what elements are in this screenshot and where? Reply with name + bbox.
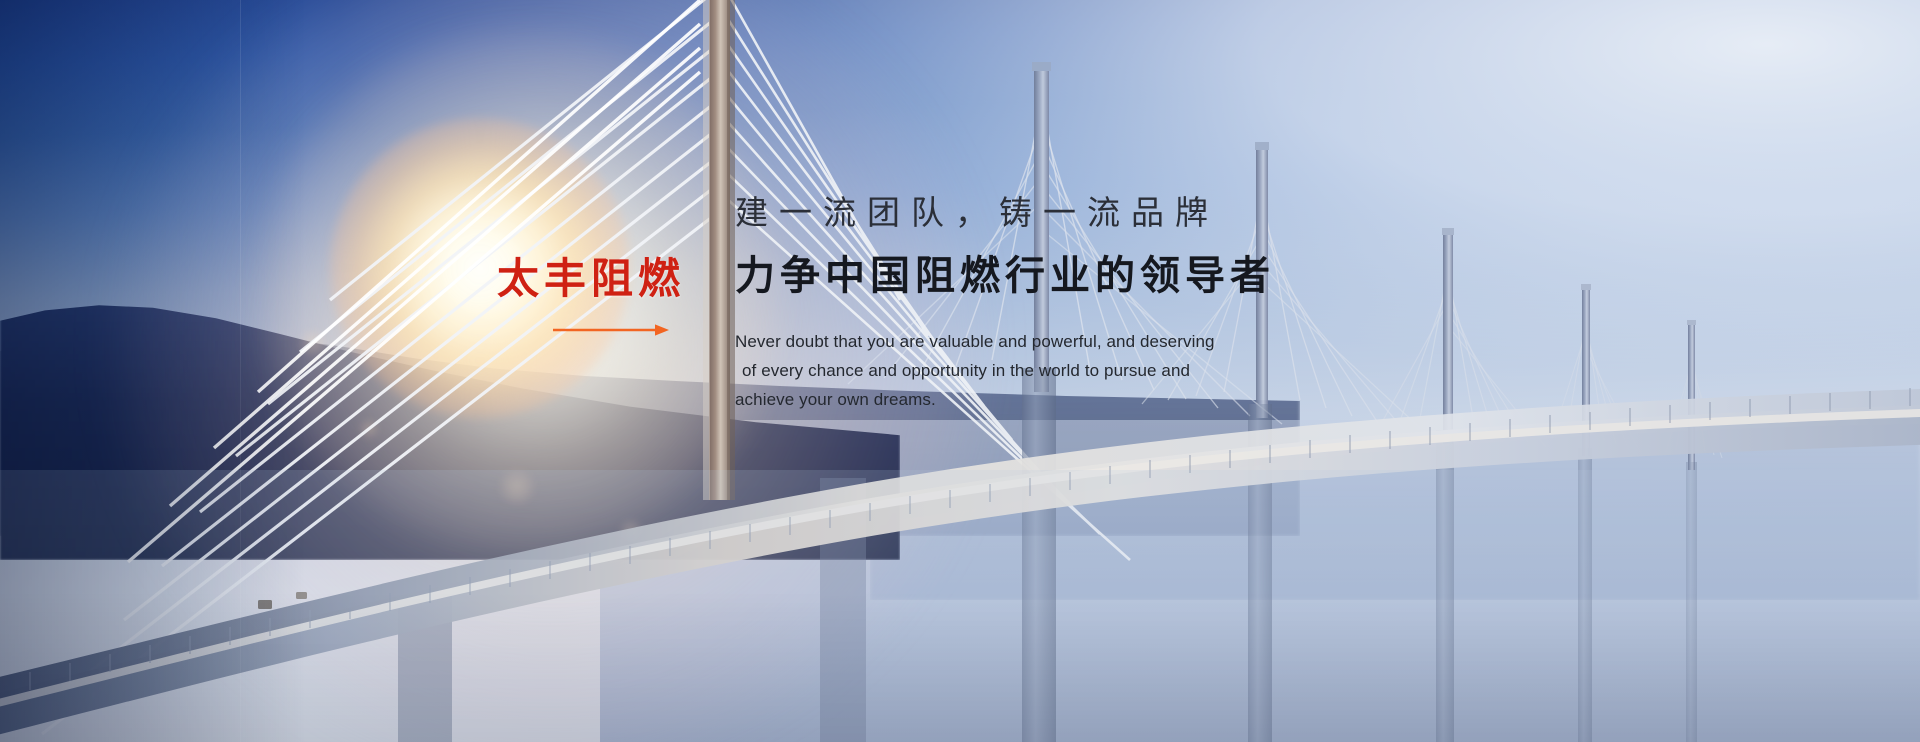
paragraph-line-3: achieve your own dreams. [735,385,1310,414]
banner-content: 太丰阻燃 建一流团队，铸一流品牌 力争中国阻燃行业的领导者 Never doub… [0,0,1920,742]
paragraph-line-2: of every chance and opportunity in the w… [735,356,1310,385]
company-logo[interactable]: 太丰阻燃 [395,258,685,336]
logo-text: 太丰阻燃 [395,258,685,300]
headline-subtitle: 建一流团队，铸一流品牌 [735,192,1435,233]
arrow-right-icon [551,322,671,336]
logo-arrow [395,322,685,336]
hero-banner: 太丰阻燃 建一流团队，铸一流品牌 力争中国阻燃行业的领导者 Never doub… [0,0,1920,742]
banner-paragraph: Never doubt that you are valuable and po… [735,327,1310,414]
paragraph-line-1: Never doubt that you are valuable and po… [735,327,1310,356]
headline-title: 力争中国阻燃行业的领导者 [735,251,1435,301]
banner-copy: 建一流团队，铸一流品牌 力争中国阻燃行业的领导者 Never doubt tha… [735,192,1435,414]
